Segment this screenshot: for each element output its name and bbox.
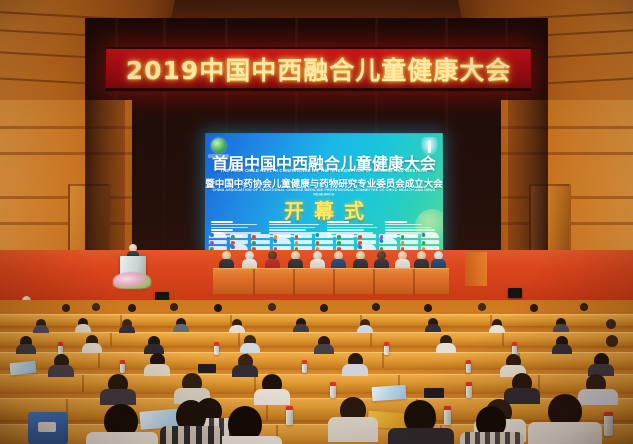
water-bottle[interactable] (214, 342, 219, 355)
audience-member (372, 303, 380, 311)
audience-member (229, 325, 245, 333)
podium-flower-arrangement (113, 272, 151, 289)
audience-member (33, 325, 49, 333)
audience-member (425, 324, 441, 332)
backpack-logo (38, 422, 56, 432)
desk-row (0, 352, 633, 368)
audience-member (254, 389, 290, 405)
audience-member (232, 365, 258, 377)
audience-member-foreground (160, 426, 222, 444)
audience-member (170, 303, 178, 311)
conference-document[interactable] (372, 385, 407, 401)
audience-member (48, 365, 74, 377)
desk-row (0, 314, 633, 326)
audience-member (128, 304, 136, 312)
audience-member (530, 304, 538, 312)
audience-member (82, 343, 102, 353)
audience-member (606, 335, 618, 347)
audience-member (478, 303, 486, 311)
audience-member (119, 325, 135, 333)
audience-member (293, 324, 309, 332)
audience-seating-area (0, 300, 633, 444)
stage-floor-monitor-right (508, 288, 522, 298)
water-bottle[interactable] (466, 360, 471, 373)
water-bottle[interactable] (330, 382, 336, 398)
audience-member (214, 304, 222, 312)
water-bottle[interactable] (604, 412, 613, 436)
audience-member (16, 344, 36, 354)
audience-member (75, 324, 91, 332)
audience-member (328, 417, 378, 442)
audience-member (268, 303, 276, 311)
audience-member-foreground (388, 428, 454, 444)
audience-member (320, 304, 328, 312)
water-bottle[interactable] (302, 360, 307, 373)
audience-member (62, 304, 70, 312)
audience-member (92, 303, 100, 311)
conference-hall-photo: 2019中国中西融合儿童健康大会 首届中国中西融合儿童健康大会 THE FIRS… (0, 0, 633, 444)
audience-member (552, 344, 572, 354)
event-banner: 2019中国中西融合儿童健康大会 (106, 47, 532, 91)
water-bottle[interactable] (444, 406, 451, 425)
electronic-device[interactable] (198, 364, 216, 373)
electronic-device[interactable] (424, 388, 444, 398)
audience-member (342, 364, 368, 376)
main-led-screen: 首届中国中西融合儿童健康大会 THE FIRST CHILD HEALTH CO… (205, 133, 443, 251)
water-bottle[interactable] (384, 342, 389, 355)
audience-member (489, 325, 505, 333)
audience-member (144, 364, 170, 376)
sponsor-logo-band (205, 233, 443, 251)
head-table (213, 268, 449, 294)
audience-member (100, 389, 136, 405)
water-bottle[interactable] (120, 360, 125, 373)
audience-member-foreground (86, 432, 158, 444)
audience-member (580, 303, 588, 311)
screen-headline: 开幕式 (205, 195, 443, 224)
audience-member (240, 343, 260, 353)
audience-member (553, 324, 569, 332)
water-bottle[interactable] (466, 382, 472, 398)
banner-title: 2019中国中西融合儿童健康大会 (126, 51, 512, 87)
audience-member (314, 344, 334, 354)
audience-member-foreground (460, 432, 524, 444)
audience-member (357, 325, 373, 333)
water-bottle[interactable] (286, 406, 293, 425)
audience-member (606, 319, 616, 329)
audience-member (436, 343, 456, 353)
audience-member-foreground (528, 422, 602, 444)
right-stage-pedestal (465, 252, 487, 286)
audience-member (173, 324, 189, 332)
audience-member (424, 304, 432, 312)
screen-title-en: THE FIRST CHILD HEALTH CONFERENCE ON THE… (205, 168, 443, 174)
audience-member (504, 388, 540, 404)
audience-member (578, 389, 618, 405)
